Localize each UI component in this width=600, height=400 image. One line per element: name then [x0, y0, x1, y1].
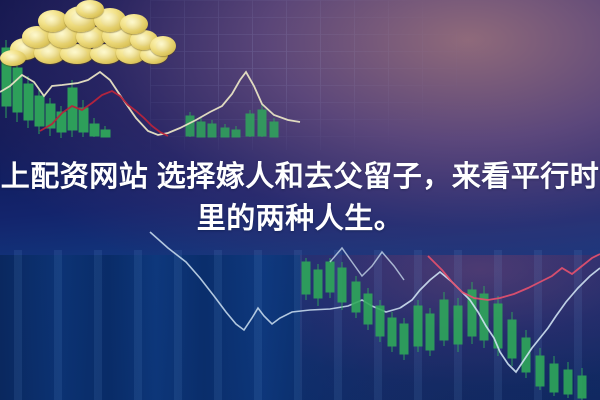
coin	[150, 36, 176, 56]
headline: 网上配资网站 选择嫁人和去父留子，来看平行时空 里的两种人生。	[0, 137, 600, 259]
headline-line-1: 网上配资网站 选择嫁人和去父留子，来看平行时空	[0, 157, 600, 197]
coin	[76, 0, 104, 18]
headline-line-2: 里的两种人生。	[197, 199, 404, 239]
column-bands	[0, 250, 600, 400]
data-grid	[150, 0, 480, 150]
coin	[120, 14, 148, 34]
banner-image: 网上配资网站 选择嫁人和去父留子，来看平行时空 里的两种人生。	[0, 0, 600, 400]
coin	[0, 50, 26, 66]
